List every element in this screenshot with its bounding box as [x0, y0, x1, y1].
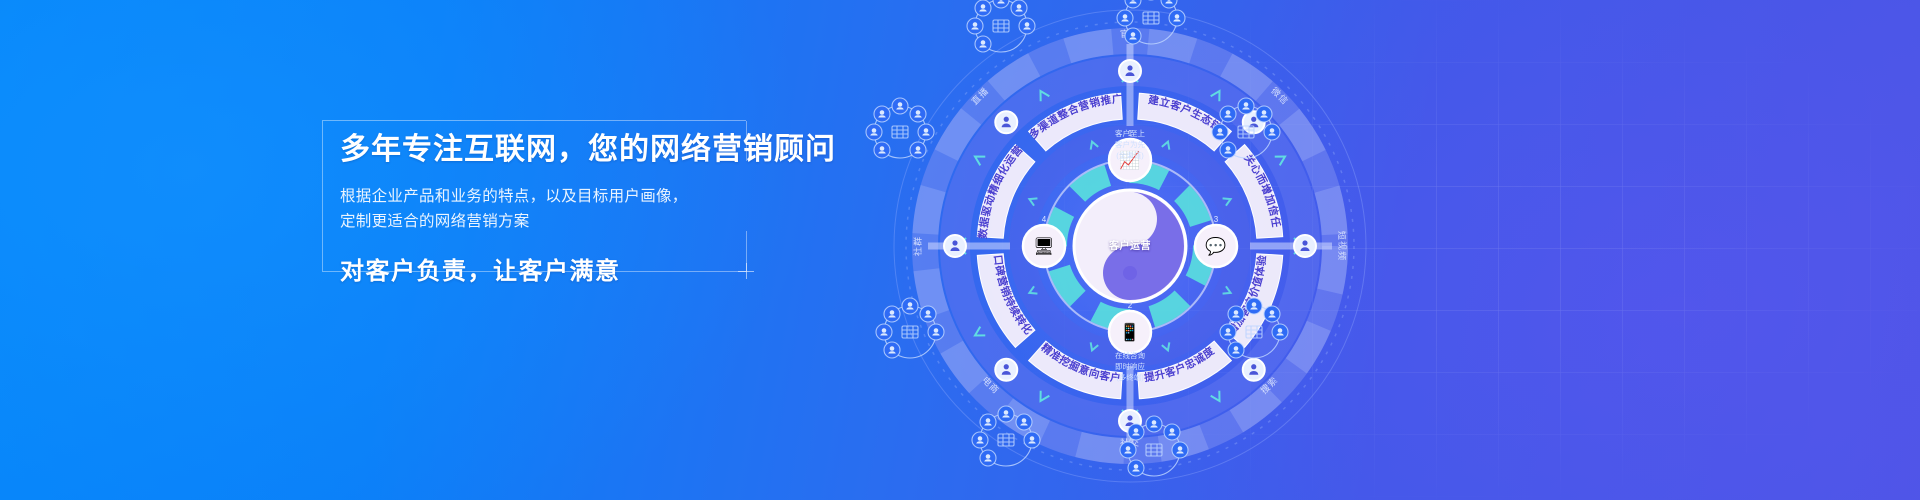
hero-copy-block: 多年专注互联网，您的网络营销顾问 根据企业产品和业务的特点，以及目标用户画像， … [322, 120, 746, 272]
hero-subtitle-line-2: 定制更适合的网络营销方案 [340, 210, 760, 235]
wheel-inner-note: 客户至上 [1115, 128, 1145, 138]
user-group-icon [854, 86, 946, 178]
hub-icon-index: 4 [1042, 215, 1047, 224]
user-group-icon [1108, 404, 1200, 496]
user-head-icon [952, 240, 957, 245]
satellite-cluster-top-right [1105, 0, 1197, 64]
wheel-inner-note: (全渠道) [1116, 150, 1144, 160]
user-node-icon [995, 111, 1017, 133]
user-head-icon [1302, 240, 1307, 245]
hero-slogan: 对客户负责，让客户满意 [340, 251, 760, 286]
satellite-cluster-bottom-center [960, 394, 1052, 486]
hub-icon-index: 3 [1214, 215, 1219, 224]
wheel-inner-note: (多终端) [1116, 372, 1144, 382]
chat-bubbles-icon: 💬 [1205, 236, 1226, 256]
monitor-icon: 🖥 [1033, 237, 1055, 256]
hero-headline: 多年专注互联网，您的网络营销顾问 [340, 132, 760, 168]
mobile-phone-icon: 📱 [1119, 322, 1140, 342]
satellite-cluster-bottom-left [864, 286, 956, 378]
wheel-outer-tag: 短视频 [1337, 231, 1348, 262]
satellite-cluster-top-center [955, 0, 1047, 72]
user-node-icon [1294, 235, 1316, 257]
user-head-icon [1127, 65, 1132, 70]
wheel-inner-note: 即时响应 [1115, 361, 1145, 371]
marketing-wheel-graphic: 建立客户生态链关心而增加信任增加客户价值体验提升客户忠诚度精准挖掘意向客户口碑营… [870, 0, 1390, 500]
wheel-inner-note: 在线咨询 [1115, 350, 1145, 360]
user-group-icon [1200, 86, 1292, 178]
satellite-cluster-right [1200, 86, 1292, 178]
user-head-icon [1004, 117, 1009, 122]
user-group-icon [955, 0, 1047, 72]
hero-subtitle-line-1: 根据企业产品和业务的特点，以及目标用户画像， [340, 185, 760, 210]
hero-subtitle: 根据企业产品和业务的特点，以及目标用户画像， 定制更适合的网络营销方案 [340, 185, 760, 235]
user-node-icon [995, 359, 1017, 381]
hub-icon-index: 2 [1128, 301, 1133, 310]
user-group-icon [960, 394, 1052, 486]
user-group-icon [864, 286, 956, 378]
user-group-icon [1105, 0, 1197, 64]
satellite-cluster-bottom-right [1108, 404, 1200, 496]
user-node-icon [944, 235, 966, 257]
user-head-icon [1004, 364, 1009, 369]
user-group-icon [1208, 286, 1300, 378]
satellite-cluster-top-left [854, 86, 946, 178]
satellite-cluster-far-right [1208, 286, 1300, 378]
wheel-inner-note: 客户为先 [1115, 139, 1145, 149]
hero-banner: 多年专注互联网，您的网络营销顾问 根据企业产品和业务的特点，以及目标用户画像， … [0, 0, 1920, 500]
